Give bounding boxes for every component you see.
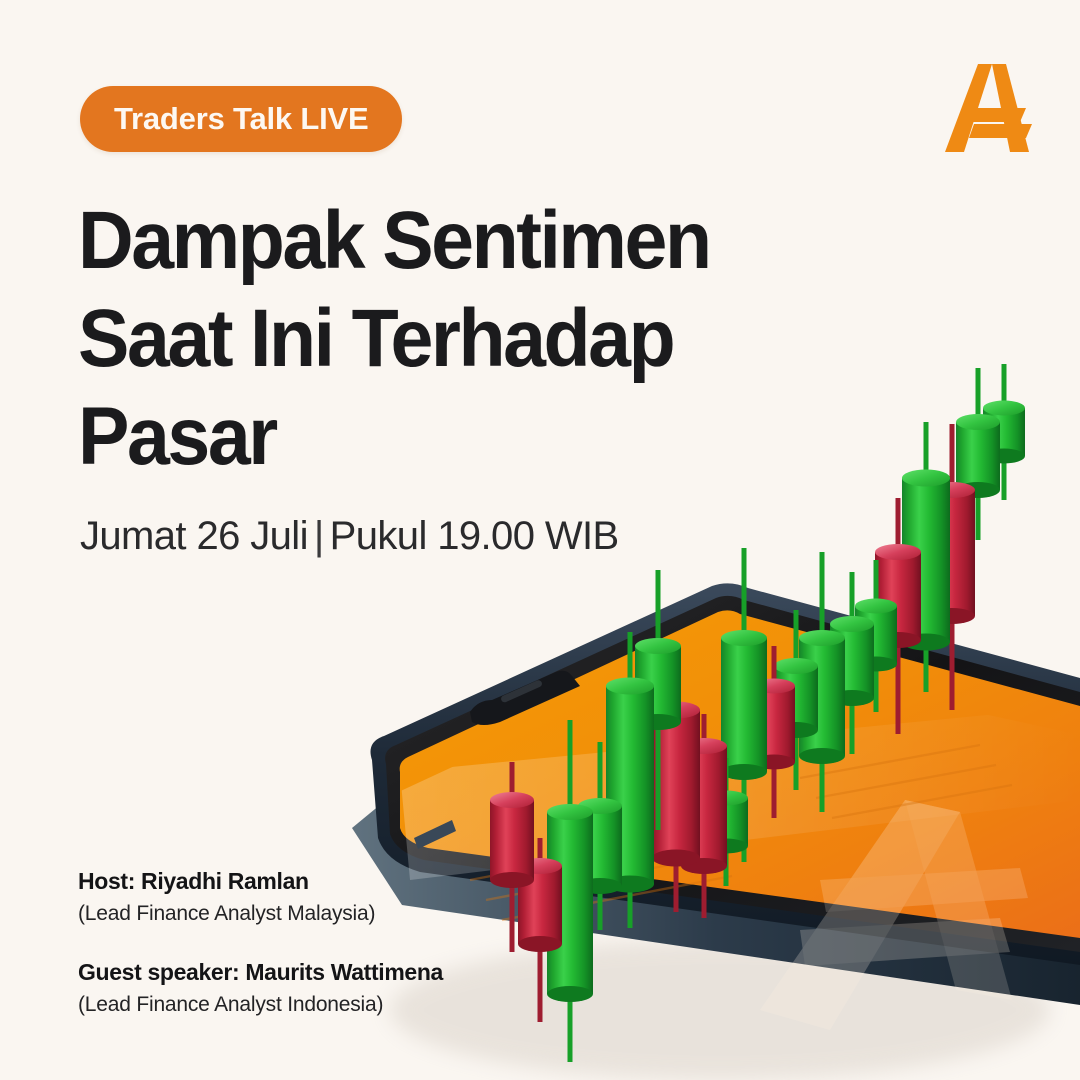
host-credit: Host: Riyadhi Ramlan (Lead Finance Analy… [78,866,598,929]
headline-line-3: Pasar [78,388,774,486]
schedule-line: Jumat 26 Juli|Pukul 19.00 WIB [80,514,619,559]
headline-line-1: Dampak Sentimen [78,192,774,290]
host-name: Host: Riyadhi Ramlan [78,866,598,896]
schedule-date: Jumat 26 Juli [80,514,308,558]
brand-logo [934,58,1038,158]
headline-line-2: Saat Ini Terhadap [78,290,774,388]
page-title: Dampak Sentimen Saat Ini Terhadap Pasar [78,192,774,486]
guest-credit: Guest speaker: Maurits Wattimena (Lead F… [78,957,598,1020]
host-role: (Lead Finance Analyst Malaysia) [78,899,598,929]
poster-canvas: Traders Talk LIVE Dampak Sentimen Saat I… [0,0,1080,1080]
schedule-separator: | [308,514,330,558]
live-badge-label: Traders Talk LIVE [114,101,368,137]
schedule-time: Pukul 19.00 WIB [330,514,619,558]
guest-name: Guest speaker: Maurits Wattimena [78,957,598,987]
guest-role: (Lead Finance Analyst Indonesia) [78,990,598,1020]
octa-a-logo-icon [934,58,1038,158]
credits-block: Host: Riyadhi Ramlan (Lead Finance Analy… [78,866,598,1048]
live-badge[interactable]: Traders Talk LIVE [80,86,402,152]
